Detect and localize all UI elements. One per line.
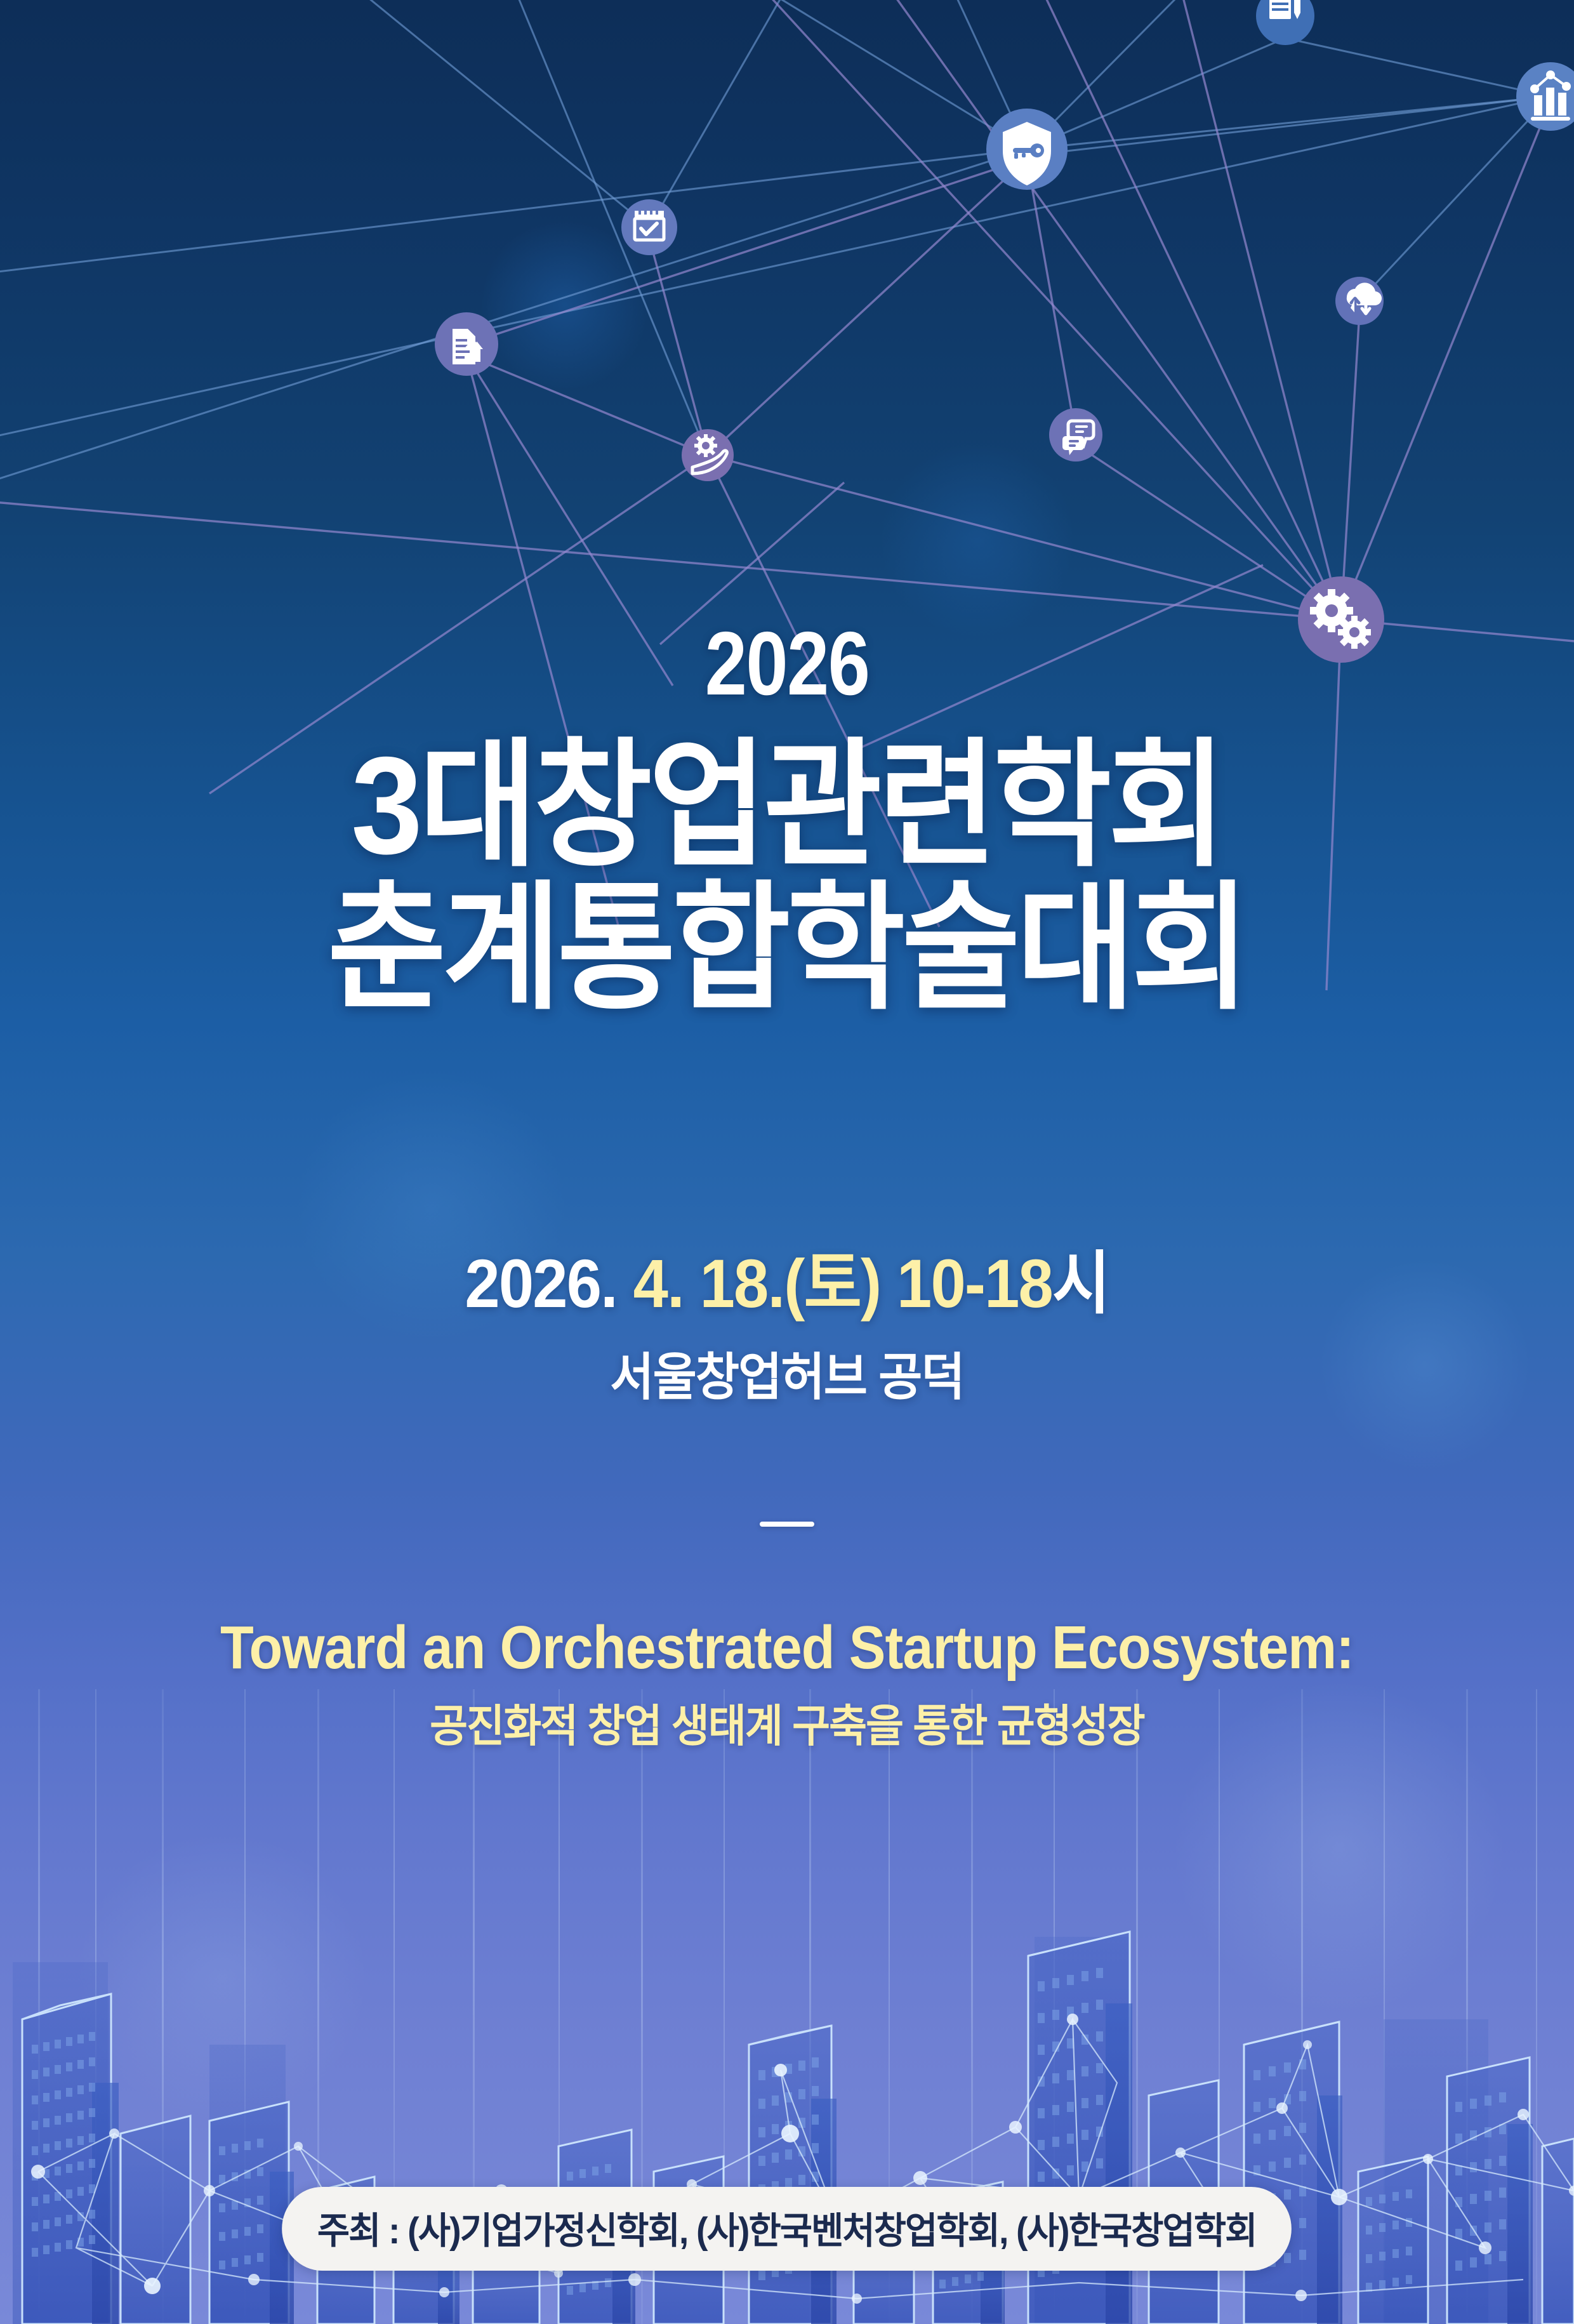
node-cloud-sync (1335, 277, 1384, 325)
title-line-2: 춘계통합학술대회 (55, 878, 1519, 1021)
node-bar-chart (1516, 62, 1574, 131)
node-document-upload (435, 312, 498, 376)
date-highlight: 4. 18.(토) 10-18 (633, 1245, 1052, 1322)
node-shield-key (986, 109, 1068, 190)
title-line-1: 3대창업관련학회 (55, 735, 1519, 878)
poster-title: 3대창업관련학회 춘계통합학술대회 (0, 735, 1574, 1020)
node-calendar-check (621, 199, 677, 255)
section-divider (760, 1522, 814, 1527)
node-hand-gear (682, 429, 734, 481)
date-suffix: 시 (1052, 1245, 1109, 1322)
organizer-bar: 주최 : (사)기업가정신학회, (사)한국벤처창업학회, (사)한국창업학회 (0, 2187, 1574, 2271)
organizer-label: 주최 : (사)기업가정신학회, (사)한국벤처창업학회, (사)한국창업학회 (282, 2187, 1292, 2271)
poster-year: 2026 (126, 619, 1448, 709)
event-datetime: 2026. 4. 18.(토) 10-18시 (63, 1249, 1511, 1318)
node-chat-bubbles (1049, 408, 1102, 461)
theme-english: Toward an Orchestrated Startup Ecosystem… (79, 1617, 1495, 1678)
node-document-edit (1256, 0, 1314, 45)
conference-poster: 2026 3대창업관련학회 춘계통합학술대회 2026. 4. 18.(토) 1… (0, 0, 1574, 2324)
date-prefix: 2026. (465, 1245, 633, 1322)
event-venue: 서울창업허브 공덕 (47, 1352, 1526, 1403)
